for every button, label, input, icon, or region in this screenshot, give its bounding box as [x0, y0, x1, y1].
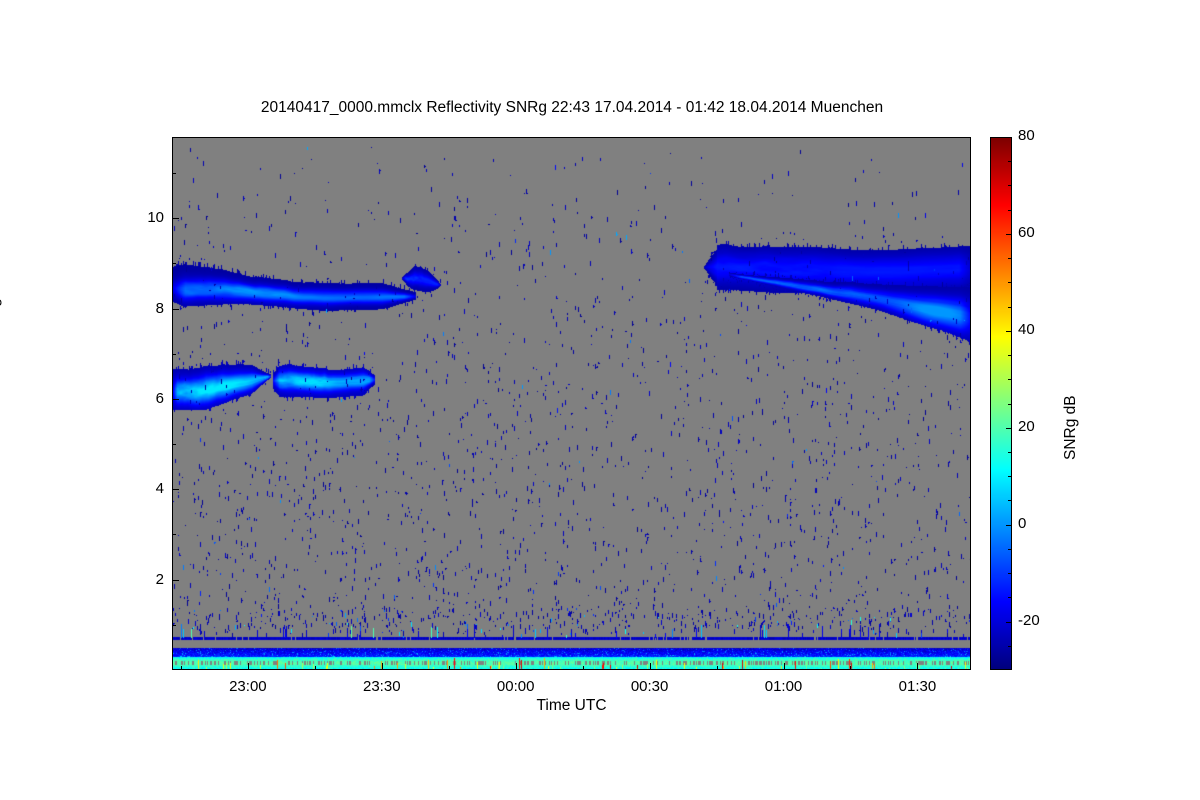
x-tick-label: 00:00 — [476, 678, 556, 695]
x-tick-minor — [449, 666, 450, 670]
y-tick-minor — [172, 444, 176, 445]
y-tick-label: 6 — [120, 390, 164, 407]
x-tick-major — [784, 663, 785, 670]
page-title: 20140417_0000.mmclx Reflectivity SNRg 22… — [172, 99, 972, 117]
x-tick-major — [650, 663, 651, 670]
colorbar-tick-minor — [1008, 500, 1011, 501]
x-tick-major — [917, 663, 918, 670]
colorbar-title: SNRg dB — [1062, 395, 1080, 460]
y-tick-minor — [172, 354, 176, 355]
y-tick-major — [172, 309, 179, 310]
colorbar-tick-minor — [1008, 573, 1011, 574]
x-axis-label: Time UTC — [172, 697, 971, 715]
colorbar-tick — [1006, 234, 1011, 235]
colorbar-tick-label: 60 — [1018, 224, 1035, 241]
colorbar-tick-minor — [1008, 161, 1011, 162]
y-tick-minor — [172, 263, 176, 264]
colorbar-tick-minor — [1008, 646, 1011, 647]
x-tick-major — [382, 663, 383, 670]
colorbar-tick-minor — [1008, 476, 1011, 477]
colorbar-tick-minor — [1008, 258, 1011, 259]
y-tick-label: 10 — [120, 209, 164, 226]
x-tick-label: 01:00 — [744, 678, 824, 695]
colorbar-tick — [1006, 622, 1011, 623]
y-tick-label: 2 — [120, 571, 164, 588]
y-tick-major — [172, 489, 179, 490]
colorbar-tick-label: 20 — [1018, 418, 1035, 435]
colorbar-tick-minor — [1008, 282, 1011, 283]
colorbar-tick-minor — [1008, 379, 1011, 380]
colorbar-tick-label: 0 — [1018, 515, 1026, 532]
y-tick-minor — [172, 625, 176, 626]
x-tick-label: 01:30 — [877, 678, 957, 695]
colorbar-tick-minor — [1008, 185, 1011, 186]
colorbar-tick-minor — [1008, 355, 1011, 356]
colorbar-tick-minor — [1008, 452, 1011, 453]
plot-axes-area — [172, 137, 971, 670]
colorbar-tick — [1006, 137, 1011, 138]
x-tick-minor — [315, 666, 316, 670]
x-tick-minor — [583, 666, 584, 670]
colorbar-tick-label: -20 — [1018, 612, 1040, 629]
colorbar-tick-minor — [1008, 549, 1011, 550]
colorbar-tick — [1006, 428, 1011, 429]
x-tick-minor — [717, 666, 718, 670]
radar-figure: 20140417_0000.mmclx Reflectivity SNRg 22… — [0, 0, 1200, 800]
x-tick-major — [516, 663, 517, 670]
x-tick-major — [248, 663, 249, 670]
colorbar-tick-minor — [1008, 597, 1011, 598]
colorbar-tick-minor — [1008, 210, 1011, 211]
y-tick-minor — [172, 173, 176, 174]
y-tick-major — [172, 399, 179, 400]
y-axis-label: Height AGL km — [0, 226, 3, 330]
colorbar-tick-minor — [1008, 307, 1011, 308]
colorbar-tick-minor — [1008, 404, 1011, 405]
y-tick-minor — [172, 534, 176, 535]
y-tick-label: 8 — [120, 300, 164, 317]
x-tick-minor — [850, 666, 851, 670]
y-tick-major — [172, 218, 179, 219]
colorbar-tick-label: 80 — [1018, 127, 1035, 144]
y-tick-label: 4 — [120, 480, 164, 497]
colorbar-tick — [1006, 331, 1011, 332]
x-tick-label: 00:30 — [610, 678, 690, 695]
colorbar-tick-label: 40 — [1018, 321, 1035, 338]
y-tick-major — [172, 580, 179, 581]
colorbar-tick — [1006, 525, 1011, 526]
x-tick-label: 23:30 — [342, 678, 422, 695]
x-tick-minor — [181, 666, 182, 670]
x-tick-label: 23:00 — [208, 678, 288, 695]
reflectivity-heatmap-canvas — [173, 138, 971, 670]
